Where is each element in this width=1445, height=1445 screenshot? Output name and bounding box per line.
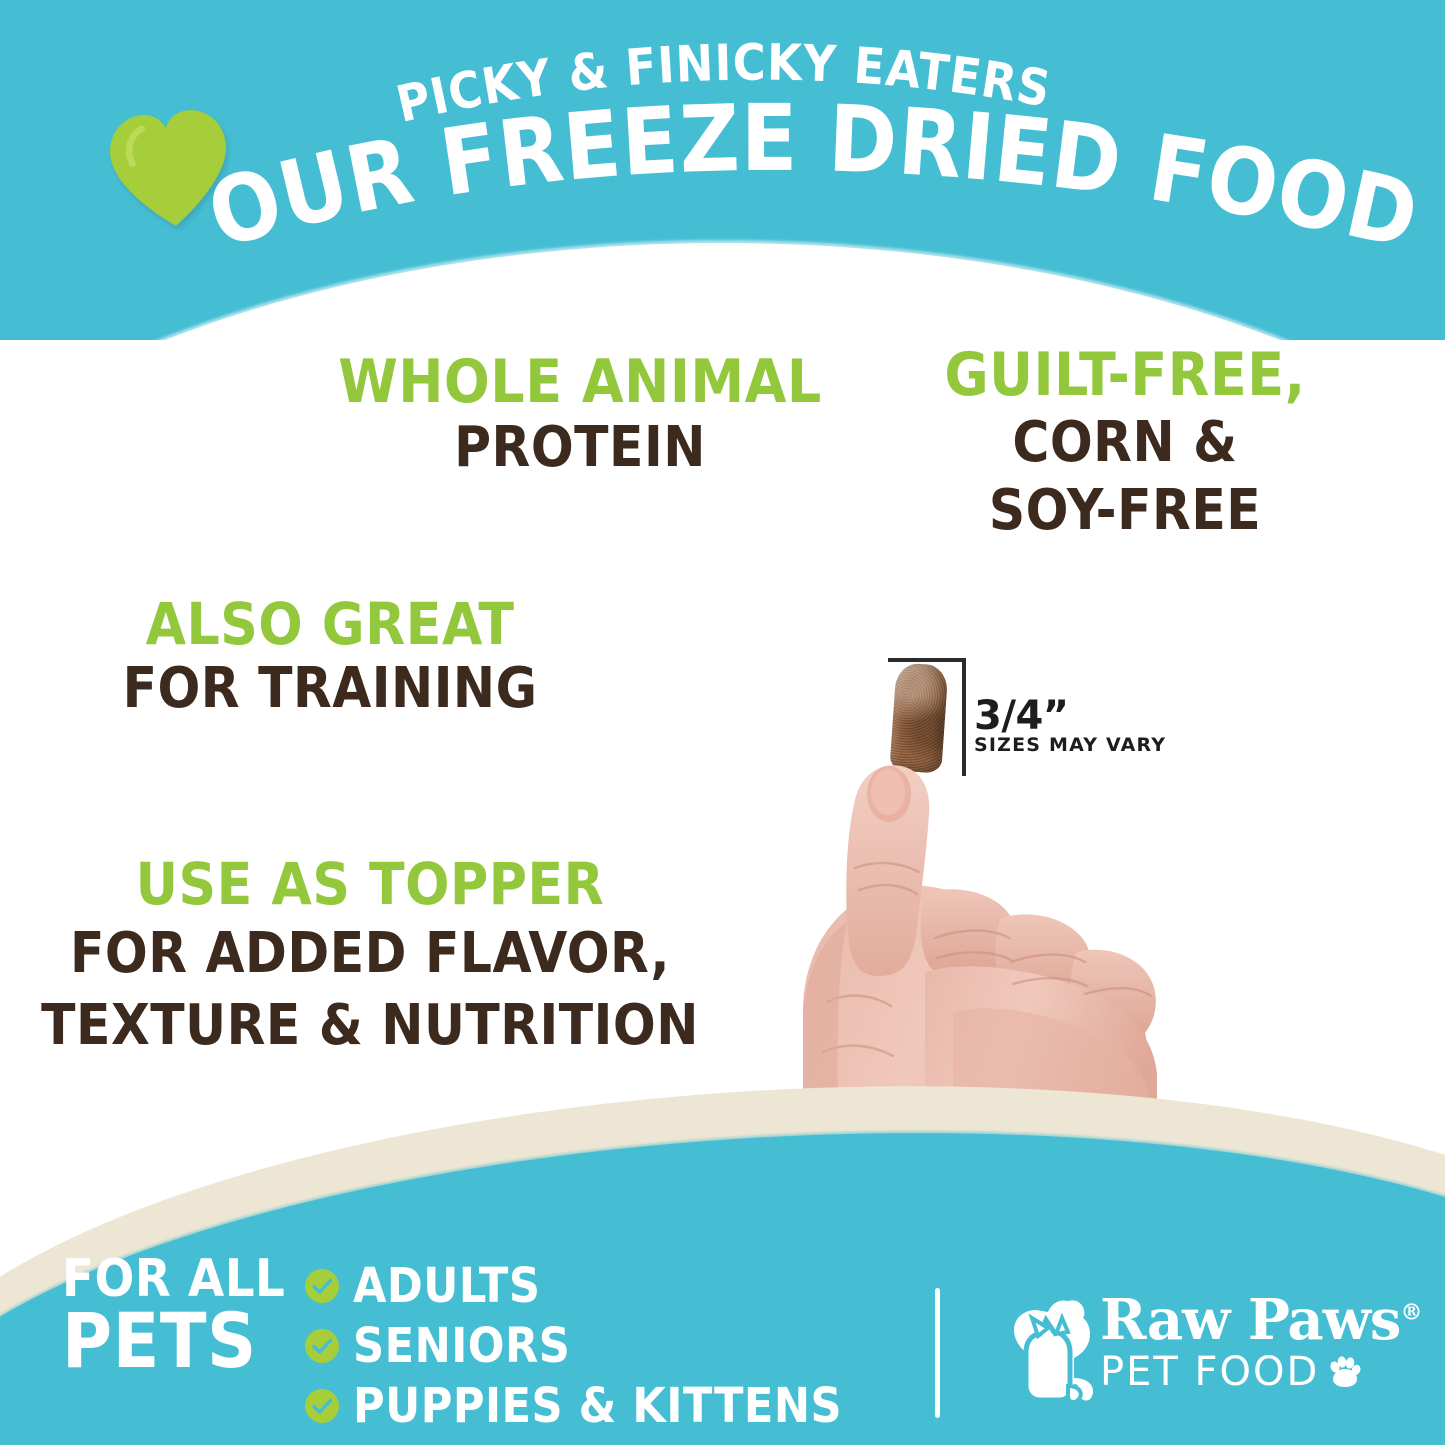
brand-logo-text: Raw Paws® PET FOOD	[1100, 1292, 1421, 1392]
brand-tagline: PET FOOD	[1100, 1352, 1319, 1392]
check-circle-icon	[305, 1389, 339, 1423]
pet-type-label: SENIORS	[353, 1322, 570, 1370]
feature-guilt-free-corn-soy-free: GUILT-FREE, CORN & SOY-FREE	[900, 345, 1350, 542]
feature-dark-line: TEXTURE & NUTRITION	[20, 995, 720, 1057]
feature-dark-line: CORN &	[900, 413, 1350, 473]
heart-icon	[97, 95, 242, 240]
feature-green-line: GUILT-FREE,	[900, 345, 1350, 405]
measurement-bracket-icon	[888, 658, 966, 776]
feature-green-line: USE AS TOPPER	[20, 855, 720, 913]
footer-divider	[935, 1288, 940, 1418]
feature-green-line: ALSO GREAT	[40, 595, 620, 653]
pet-type-label: ADULTS	[353, 1262, 540, 1310]
brand-name-text: Raw Paws	[1100, 1287, 1400, 1353]
brand-tagline-row: PET FOOD	[1100, 1352, 1421, 1392]
pet-type-list: ADULTS SENIORS PUPPIES & KITTENS	[305, 1256, 842, 1436]
feature-dark-line: FOR TRAINING	[40, 661, 620, 717]
brand-logo: Raw Paws® PET FOOD	[1000, 1290, 1420, 1415]
infographic-canvas: PICKY & FINICKY EATERS OUR FREEZE DRIED …	[0, 0, 1445, 1445]
feature-dark-line: SOY-FREE	[900, 481, 1350, 541]
feature-green-line: WHOLE ANIMAL	[250, 352, 910, 412]
feature-dark-line: PROTEIN	[250, 420, 910, 476]
list-item: ADULTS	[305, 1256, 842, 1316]
size-disclaimer-label: SIZES MAY VARY	[974, 736, 1166, 755]
feature-also-great-for-training: ALSO GREAT FOR TRAINING	[40, 595, 620, 717]
check-circle-icon	[305, 1329, 339, 1363]
list-item: PUPPIES & KITTENS	[305, 1376, 842, 1436]
header-white-arc	[0, 243, 1445, 340]
footer-heading-line2: PETS	[62, 1305, 285, 1378]
brand-name: Raw Paws®	[1100, 1292, 1421, 1348]
dog-and-cat-logo-icon	[1000, 1294, 1105, 1406]
check-circle-icon	[305, 1269, 339, 1303]
feature-dark-line: FOR ADDED FLAVOR,	[20, 923, 720, 985]
size-measurement-label: 3/4”	[974, 696, 1069, 736]
registered-trademark-symbol: ®	[1400, 1299, 1421, 1325]
feature-use-as-topper: USE AS TOPPER FOR ADDED FLAVOR, TEXTURE …	[20, 855, 720, 1056]
list-item: SENIORS	[305, 1316, 842, 1376]
feature-whole-animal-protein: WHOLE ANIMAL PROTEIN	[250, 352, 910, 476]
pet-type-label: PUPPIES & KITTENS	[353, 1382, 842, 1430]
footer-heading: FOR ALL PETS	[62, 1255, 285, 1378]
paw-print-icon	[1327, 1355, 1361, 1389]
